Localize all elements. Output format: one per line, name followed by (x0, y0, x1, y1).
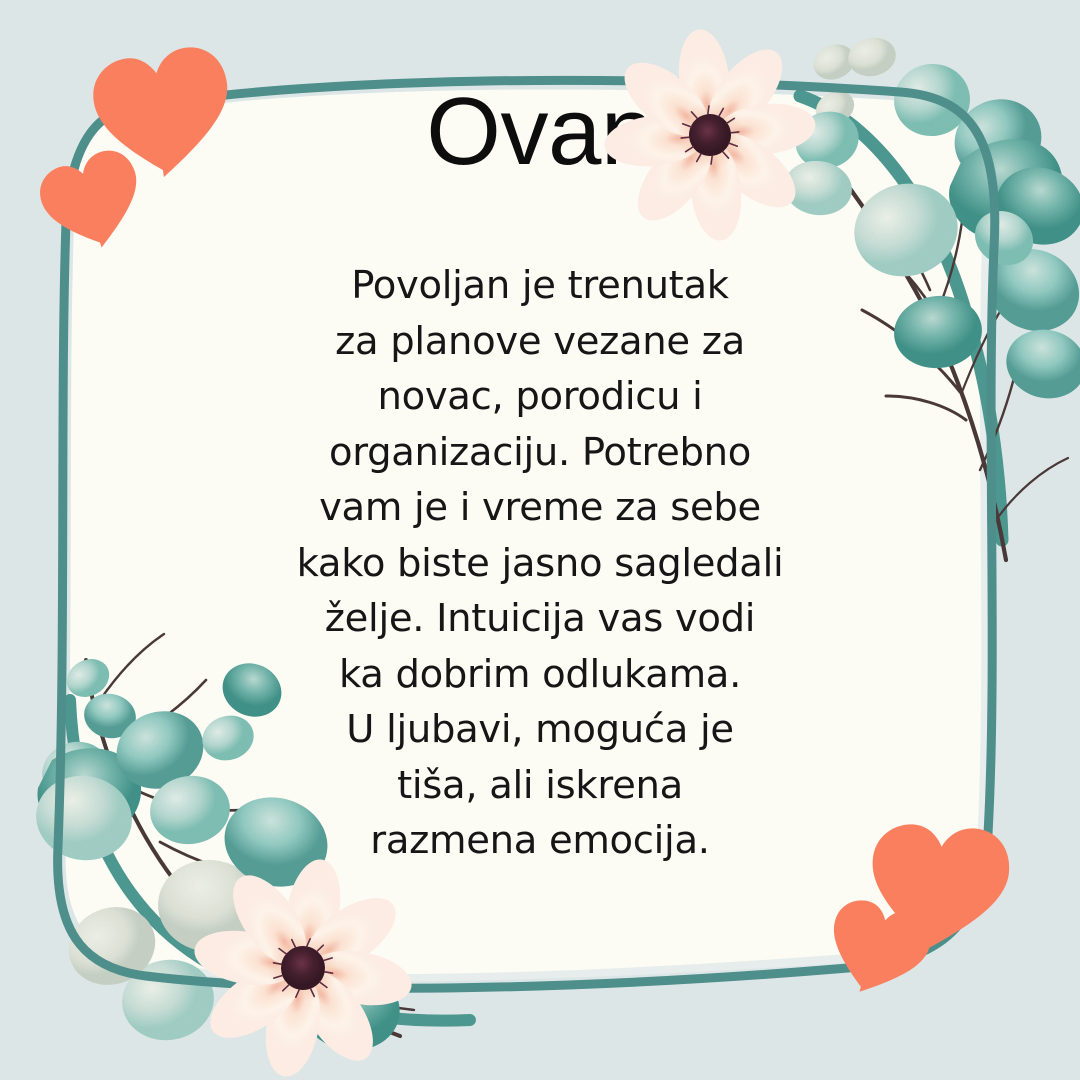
heart-top-left-small (33, 144, 154, 261)
horoscope-card-canvas: Ovan Povoljan je trenutakza planove veza… (0, 0, 1080, 1080)
hearts-decor-layer (0, 0, 1080, 1080)
